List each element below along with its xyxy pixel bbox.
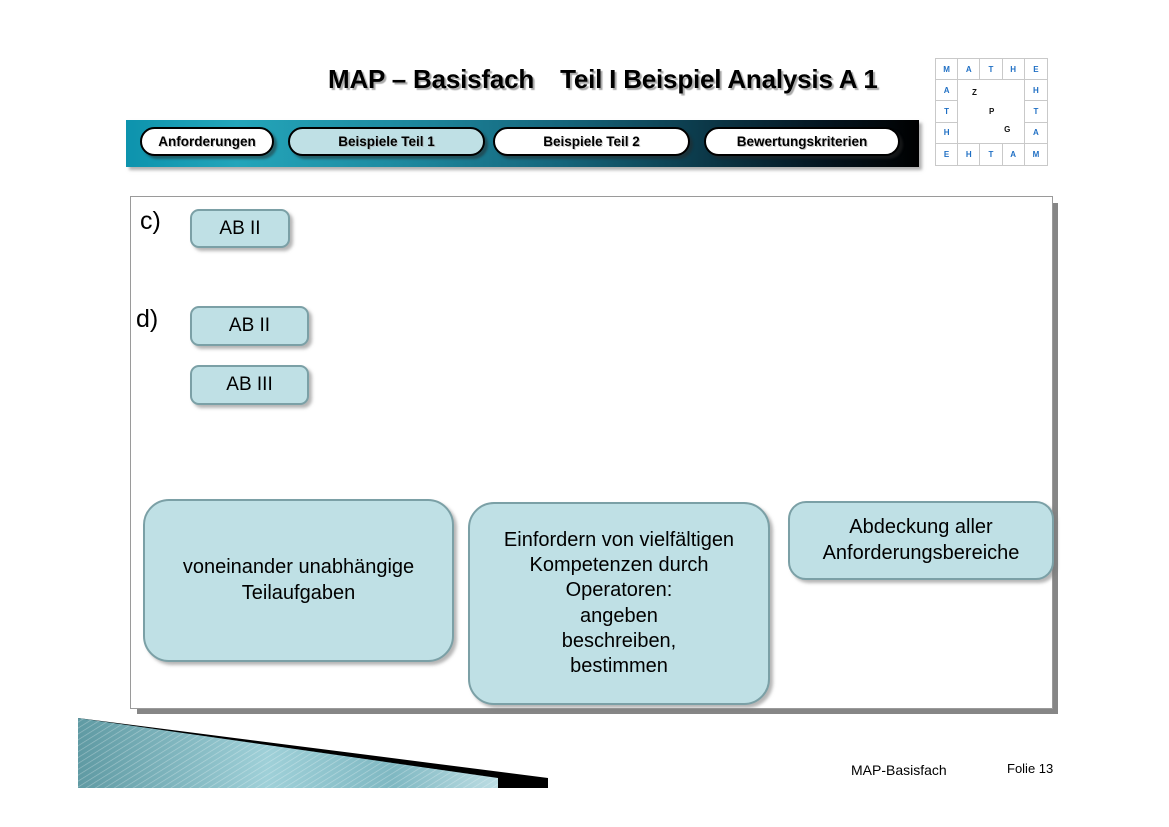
item-letter-d: d) [136,305,158,334]
tab-bewertungskriterien[interactable]: Bewertungskriterien [704,127,900,156]
grid-cell: E [936,144,958,165]
chip-ab-2-c: AB II [190,209,290,248]
grid-cell: T [1025,101,1047,122]
grid-cell: H [936,123,958,144]
grid-cell: H [1025,80,1047,101]
tab-label: Anforderungen [158,134,256,149]
chip-label: AB III [226,373,272,397]
grid-cell: A [936,80,958,101]
grid-cell: A [1025,123,1047,144]
footer-left-text: MAP-Basisfach [851,762,947,778]
criteria-label: voneinander unabhängigeTeilaufgaben [183,555,414,605]
tab-label: Beispiele Teil 1 [338,134,435,149]
grid-cell: E [1025,59,1047,80]
title-subtitle: Teil I Beispiel Analysis A 1 [560,64,878,95]
item-letter-c: c) [140,207,161,236]
criteria-label: Einfordern von vielfältigenKompetenzen d… [504,528,734,679]
chip-ab-3-d: AB III [190,365,309,405]
grid-inner-letter-g: G [1004,125,1010,134]
mathe-letter-grid: M A T H E A Z P G H T T H A E H T A M [935,58,1048,166]
grid-inner-letter-z: Z [972,88,977,97]
page-title: MAP – Basisfach Teil I Beispiel Analysis… [328,60,928,98]
criteria-label: Abdeckung allerAnforderungsbereiche [823,515,1020,565]
corner-triangle-decoration [78,710,548,802]
chip-label: AB II [219,217,260,241]
tab-label: Beispiele Teil 2 [543,134,640,149]
tab-anforderungen[interactable]: Anforderungen [140,127,274,156]
footer-slide-number: Folie 13 [1007,761,1053,776]
criteria-box-teilaufgaben: voneinander unabhängigeTeilaufgaben [143,499,454,662]
tab-label: Bewertungskriterien [737,134,868,149]
tab-beispiele-teil-2[interactable]: Beispiele Teil 2 [493,127,690,156]
grid-cell: T [936,101,958,122]
grid-cell: M [936,59,958,80]
grid-cell: H [1003,59,1025,80]
criteria-box-abdeckung: Abdeckung allerAnforderungsbereiche [788,501,1054,580]
grid-cell: A [1003,144,1025,165]
chip-label: AB II [229,314,270,338]
grid-inner-region: Z P G [958,80,1025,144]
criteria-box-operatoren: Einfordern von vielfältigenKompetenzen d… [468,502,770,705]
chip-ab-2-d: AB II [190,306,309,346]
tab-beispiele-teil-1[interactable]: Beispiele Teil 1 [288,127,485,156]
grid-cell: T [980,144,1002,165]
grid-cell: M [1025,144,1047,165]
grid-inner-letter-p: P [989,107,994,116]
grid-cell: T [980,59,1002,80]
navigation-bar: Anforderungen Beispiele Teil 1 Beispiele… [126,120,919,167]
grid-cell: A [958,59,980,80]
title-main: MAP – Basisfach [328,64,534,95]
grid-cell: H [958,144,980,165]
